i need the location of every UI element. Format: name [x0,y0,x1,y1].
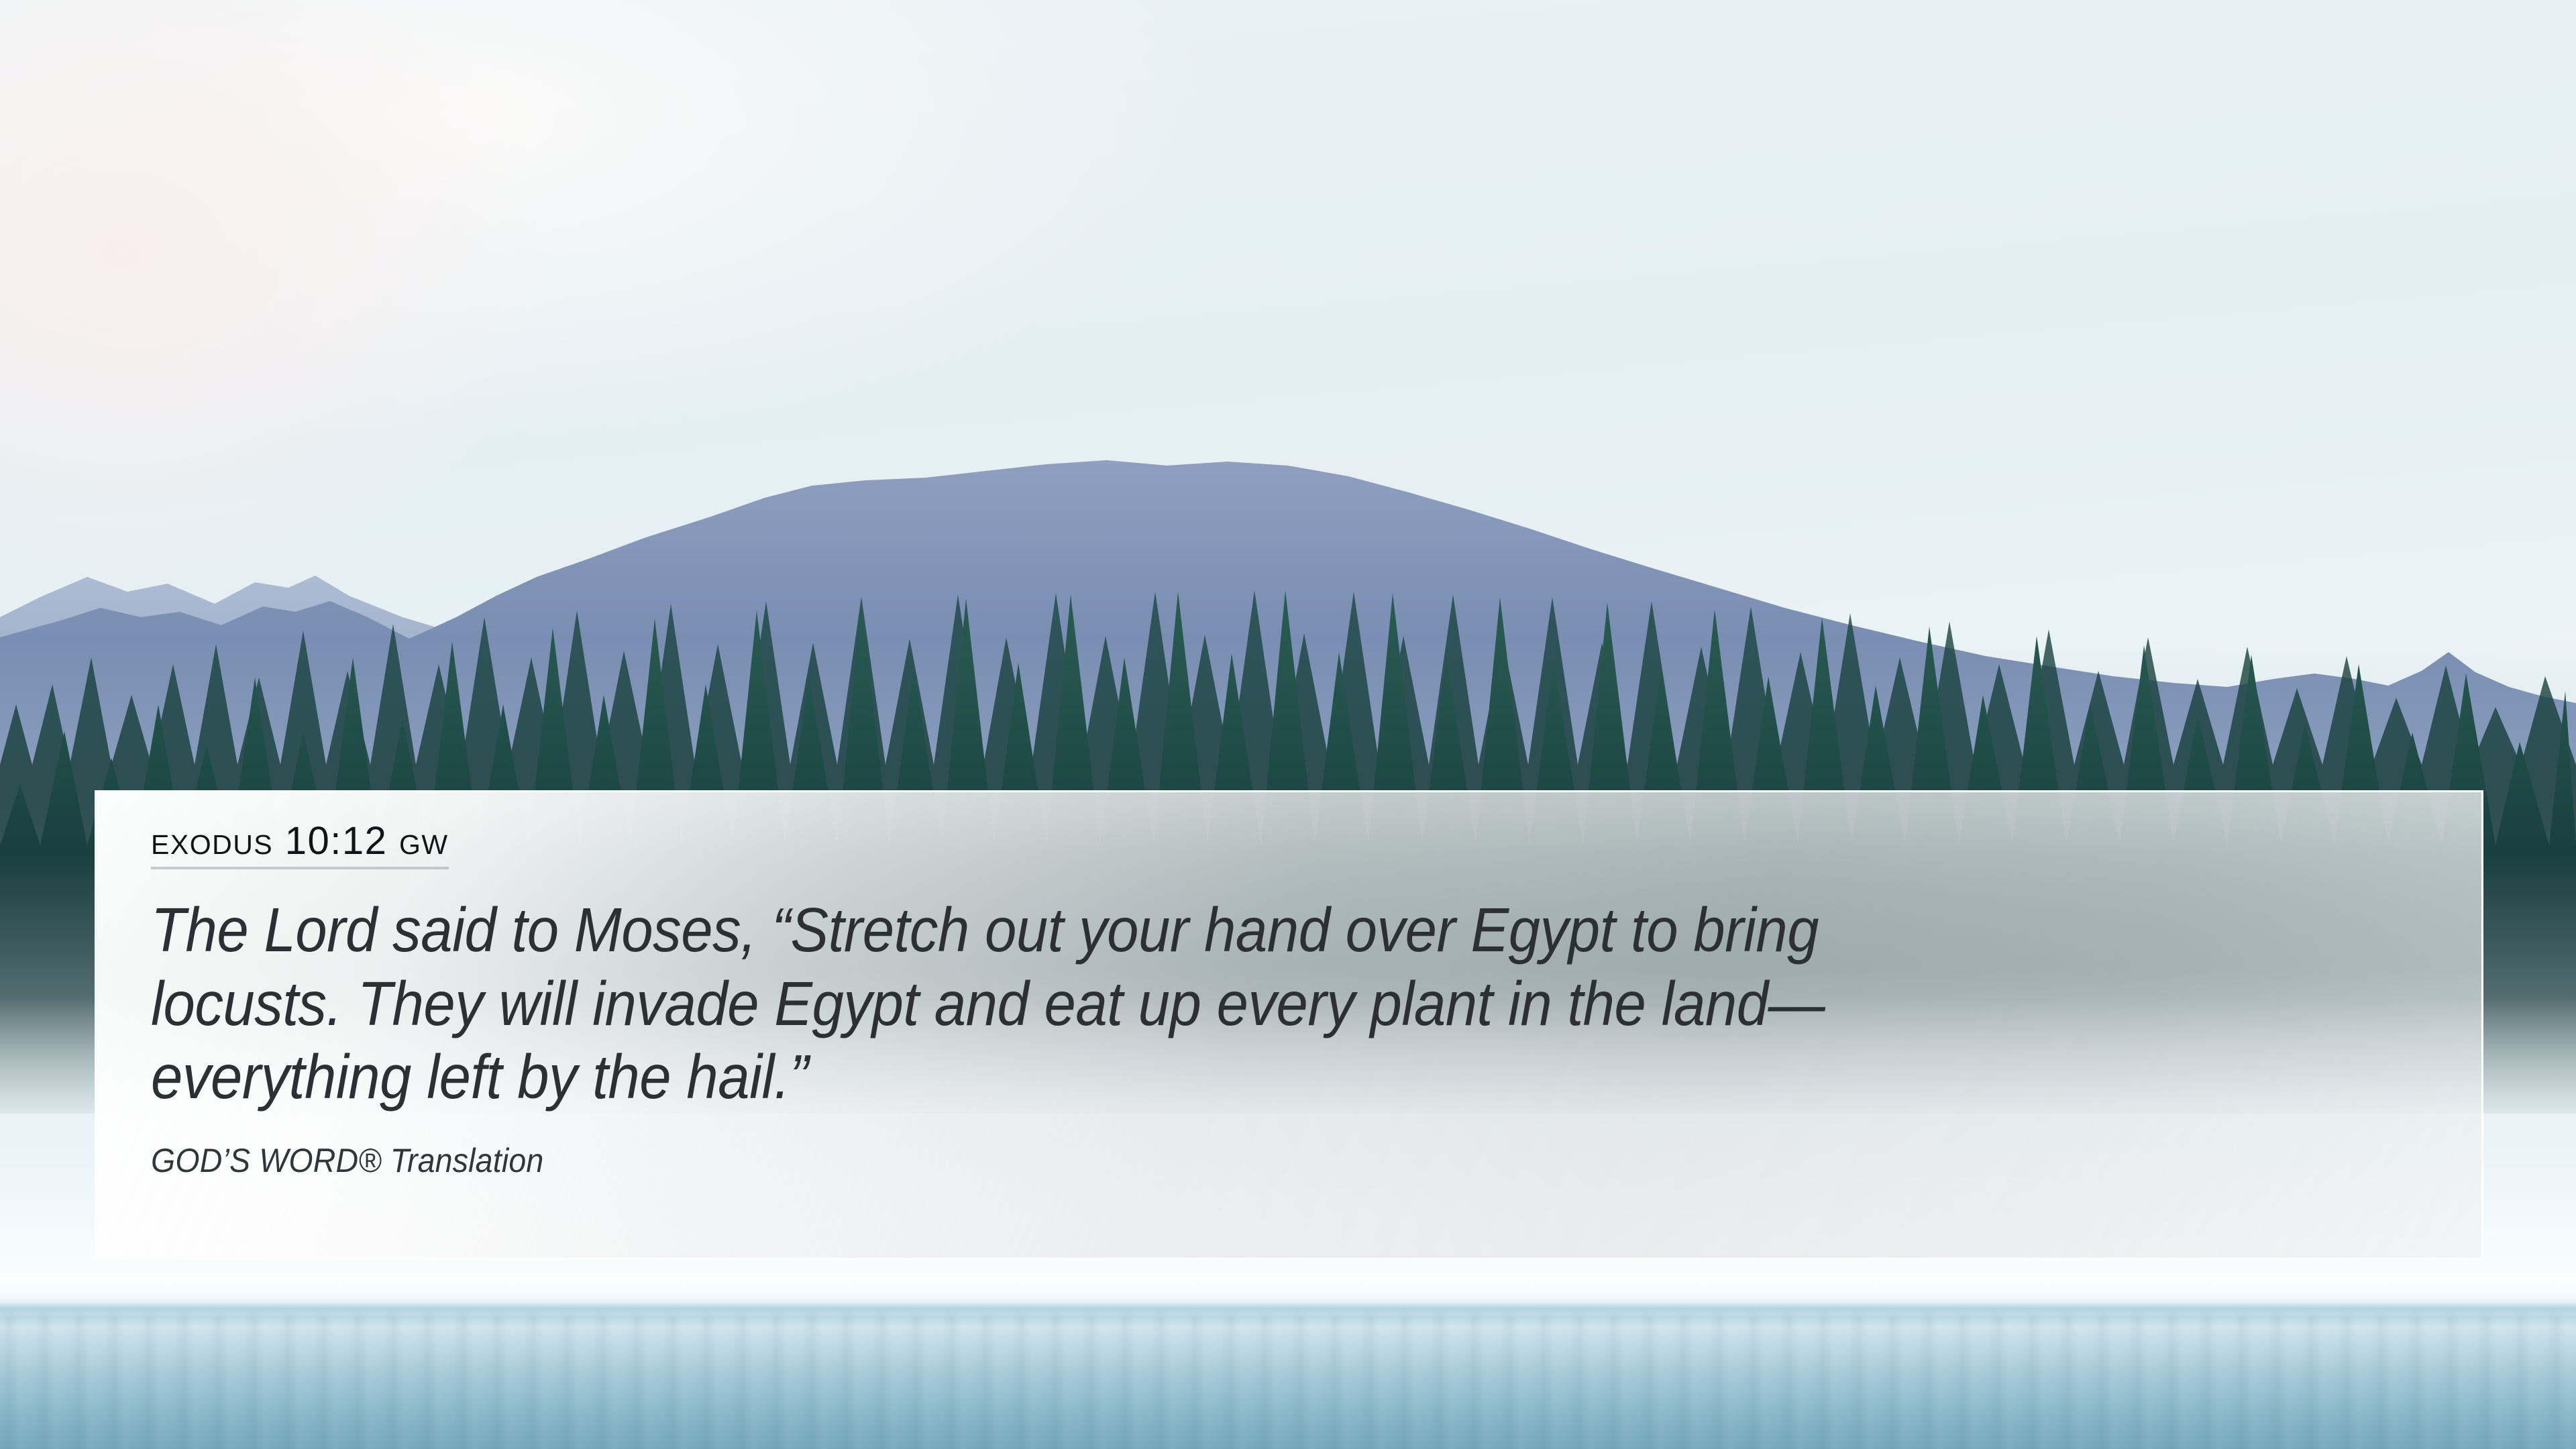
lake-water [0,1275,2576,1449]
verse-wallpaper: Exodus 10:12 GW The Lord said to Moses, … [0,0,2576,1449]
verse-text: The Lord said to Moses, “Stretch out you… [151,894,2259,1114]
verse-card: Exodus 10:12 GW The Lord said to Moses, … [95,790,2483,1260]
verse-reference: Exodus 10:12 GW [151,822,449,869]
verse-card-content: Exodus 10:12 GW The Lord said to Moses, … [151,822,2455,1180]
verse-attribution: GOD’S WORD® Translation [151,1141,2294,1180]
